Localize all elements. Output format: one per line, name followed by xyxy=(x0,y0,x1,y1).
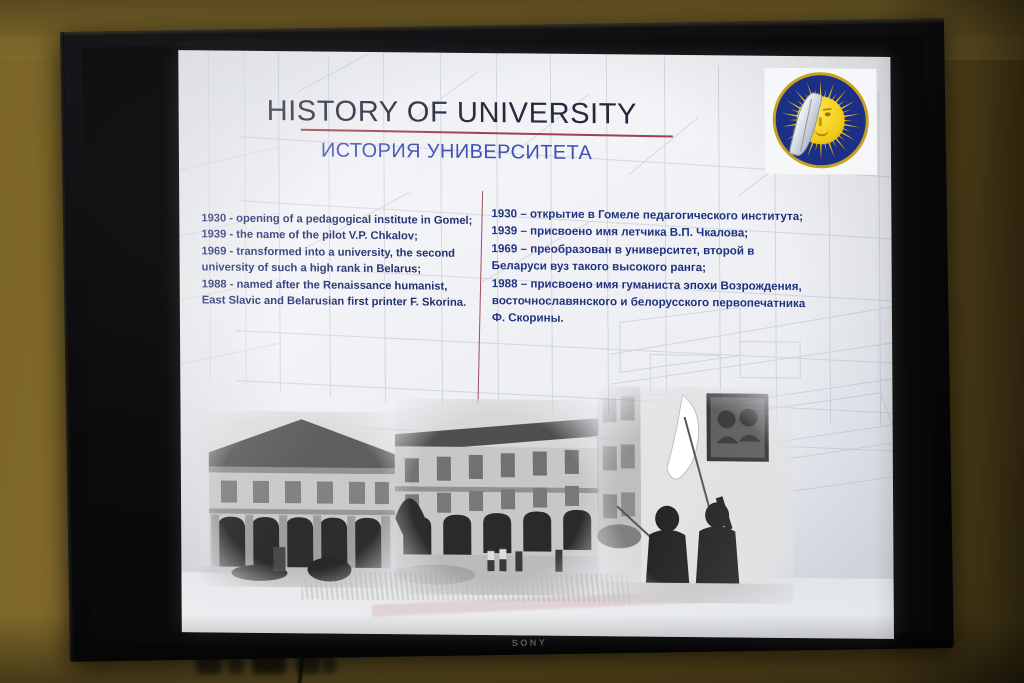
presentation-room-scene: HISTORY OF UNIVERSITY ИСТОРИЯ УНИВЕРСИТЕ… xyxy=(0,0,1024,683)
wall-right-shadow xyxy=(874,0,1024,683)
display-screen-device: HISTORY OF UNIVERSITY ИСТОРИЯ УНИВЕРСИТЕ… xyxy=(60,18,954,662)
panel-sheen xyxy=(82,34,933,645)
wall-bottom-shadow xyxy=(0,613,1024,683)
